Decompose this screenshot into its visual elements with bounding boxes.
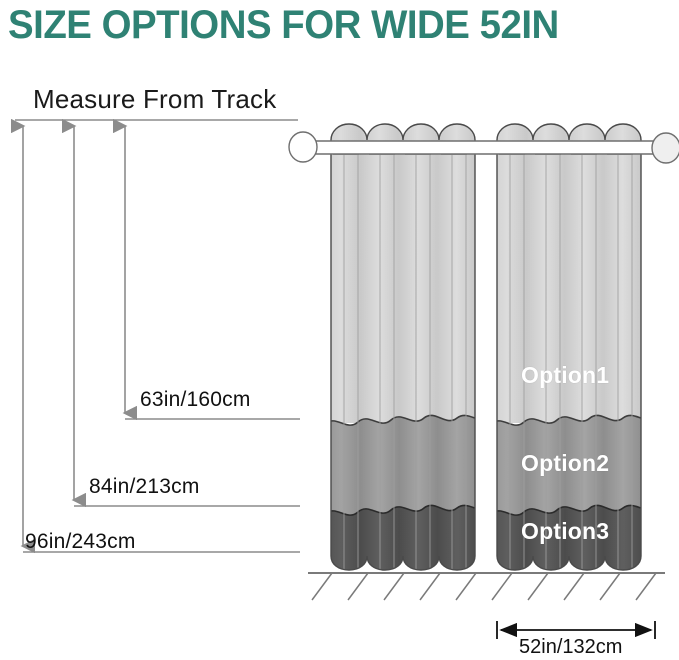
curtain-rod-finial-left — [289, 132, 317, 162]
band-option1-left — [325, 118, 485, 423]
dimension-label-63in: 63in/160cm — [140, 388, 251, 412]
floor-hatch-icon — [312, 573, 656, 600]
size-options-diagram: SIZE OPTIONS FOR WIDE 52IN Measure From … — [0, 0, 679, 660]
dimension-line-63in — [125, 126, 300, 419]
band-option3-left — [325, 505, 486, 580]
page-title: SIZE OPTIONS FOR WIDE 52IN — [8, 2, 646, 48]
dimension-label-width: 52in/132cm — [519, 636, 622, 659]
dimension-line-84in — [74, 126, 300, 506]
band-option2-left — [325, 415, 486, 515]
curtain-panel-right — [491, 118, 652, 580]
curtain-panel-left — [325, 118, 486, 580]
option1-label: Option1 — [521, 362, 609, 388]
curtain-rod — [289, 132, 679, 163]
floor — [308, 573, 665, 600]
curtain-rod-bar — [300, 141, 668, 154]
grommet-shadows — [333, 141, 633, 155]
dimension-label-84in: 84in/213cm — [89, 475, 200, 499]
dimension-label-96in: 96in/243cm — [25, 530, 136, 554]
curtain-rod-finial-right — [652, 133, 679, 163]
measure-from-track-label: Measure From Track — [33, 84, 276, 114]
option3-label: Option3 — [521, 518, 609, 544]
option2-label: Option2 — [521, 450, 609, 476]
